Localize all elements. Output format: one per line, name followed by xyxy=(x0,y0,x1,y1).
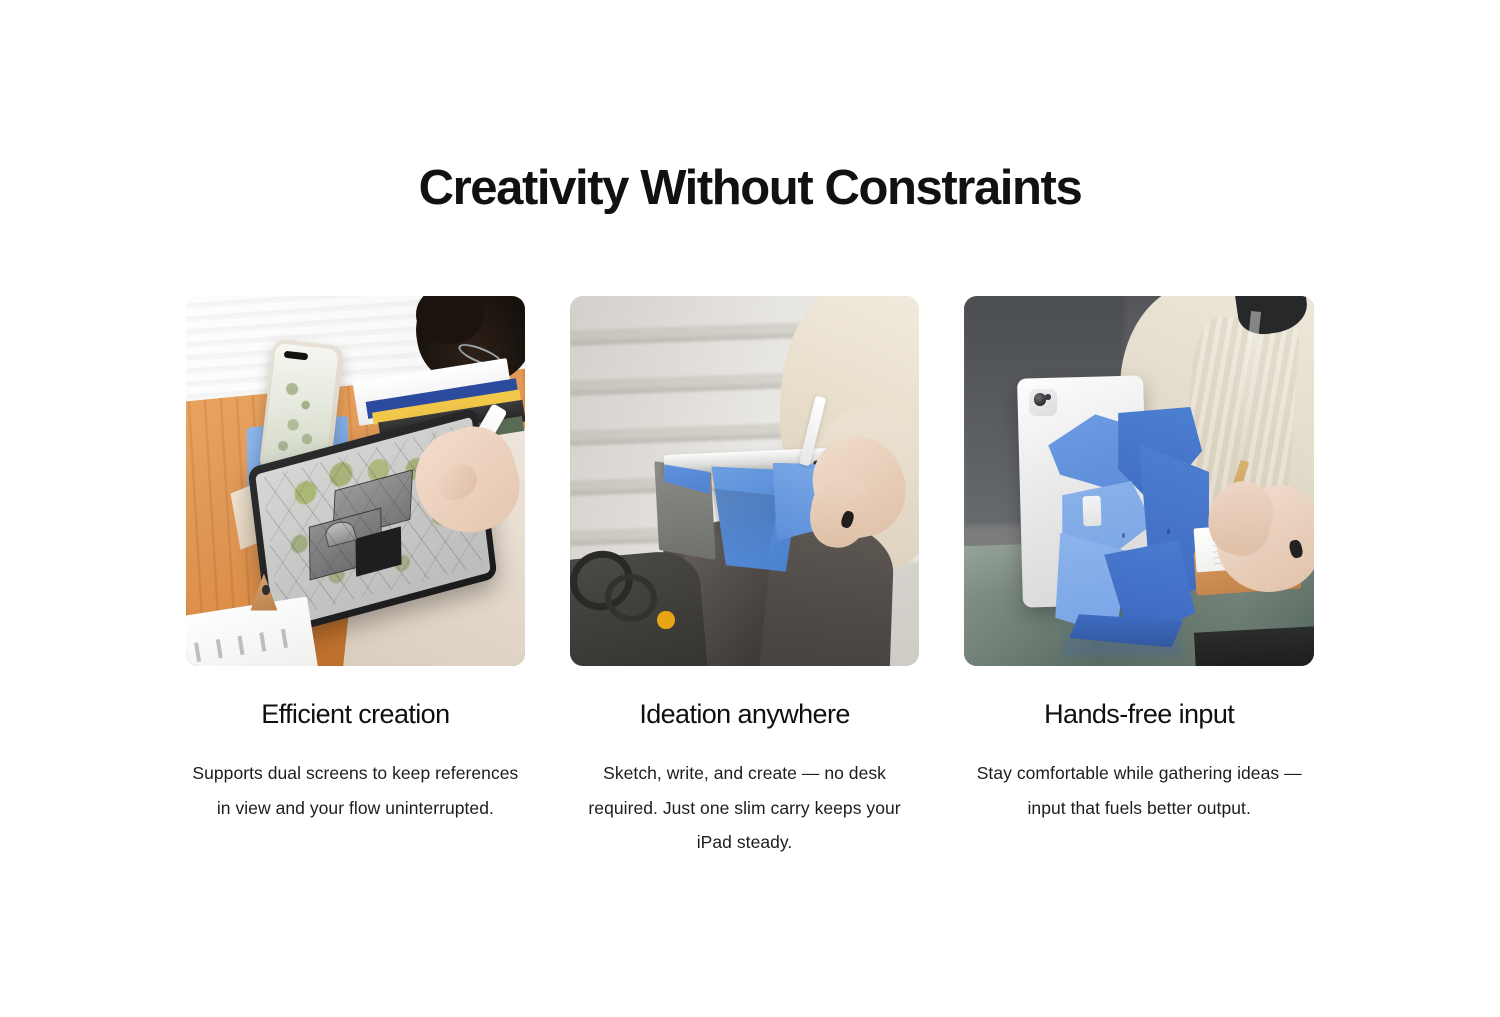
card-heading: Ideation anywhere xyxy=(570,698,920,730)
camera-lens xyxy=(1034,393,1047,406)
feature-image-efficient-creation xyxy=(186,296,525,666)
photo-green-desk-scene xyxy=(964,296,1314,666)
section-title: Creativity Without Constraints xyxy=(0,160,1500,216)
card-body-text: Sketch, write, and create — no desk requ… xyxy=(570,756,920,858)
feature-card-ideation-anywhere: Ideation anywhere Sketch, write, and cre… xyxy=(570,296,920,859)
photo-steps-scene xyxy=(570,296,920,666)
clip-screw xyxy=(262,585,269,595)
stand-vent-left xyxy=(1122,533,1125,538)
photo-desk-scene xyxy=(186,296,525,666)
camera-flash xyxy=(1045,394,1050,400)
desk-front-edge xyxy=(1194,625,1314,666)
card-heading: Efficient creation xyxy=(186,698,525,730)
card-heading: Hands-free input xyxy=(964,698,1314,730)
card-body-text: Stay comfortable while gathering ideas —… xyxy=(964,756,1314,824)
feature-card-list: Efficient creation Supports dual screens… xyxy=(186,296,1314,859)
card-body-text: Supports dual screens to keep references… xyxy=(186,756,525,824)
feature-image-hands-free-input xyxy=(964,296,1314,666)
feature-section: Creativity Without Constraints xyxy=(0,0,1500,1017)
feature-card-efficient-creation: Efficient creation Supports dual screens… xyxy=(186,296,525,859)
magnet-tab xyxy=(1083,495,1102,525)
yellow-accessory xyxy=(657,611,674,630)
feature-card-hands-free-input: Hands-free input Stay comfortable while … xyxy=(964,296,1314,859)
feature-image-ideation-anywhere xyxy=(570,296,920,666)
